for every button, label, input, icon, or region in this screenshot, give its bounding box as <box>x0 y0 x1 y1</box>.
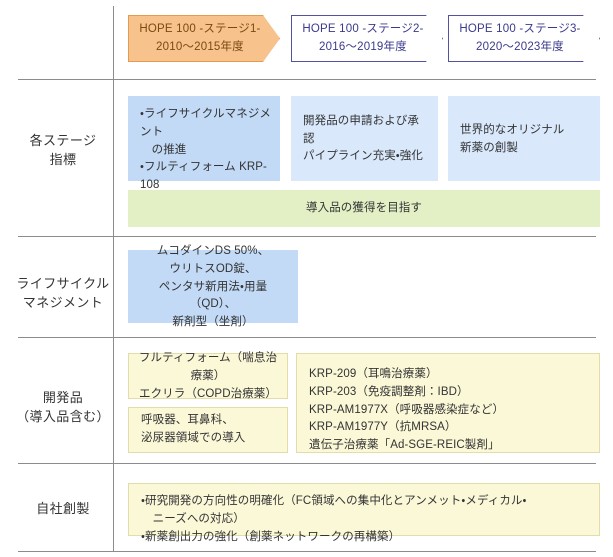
development-stage23-box: KRP-209（耳鳴治療薬） KRP-203（免疫調整剤：IBD） KRP-AM… <box>296 353 600 453</box>
grid-line-header-bottom <box>18 79 596 80</box>
grid-line-row2-bottom <box>18 337 596 338</box>
stage-indicator-stage3-box: 世界的なオリジナル 新薬の創製 <box>448 96 600 181</box>
stage-3-label: HOPE 100 -ステージ3- 2020〜2023年度 <box>459 21 580 56</box>
lifecycle-stage1-box: ムコダインDS 50%、 ウリトスOD錠、 ペンタサ新用法・用量（QD）、 新剤… <box>128 250 298 323</box>
row-label-stage-indicators: 各ステージ 指標 <box>14 132 112 170</box>
grid-line-row4-bottom <box>18 551 596 552</box>
stage-2-label: HOPE 100 -ステージ2- 2016〜2019年度 <box>302 21 423 56</box>
row-label-development: 開発品 （導入品含む） <box>14 389 112 427</box>
roadmap-diagram: HOPE 100 -ステージ1- 2010〜2015年度 HOPE 100 -ス… <box>0 0 613 557</box>
row-label-lifecycle: ライフサイクル マネジメント <box>14 275 112 313</box>
row-label-in-house: 自社創製 <box>14 500 112 519</box>
development-stage1-bottom-box: 呼吸器、耳鼻科、 泌尿器領域での導入 <box>128 407 288 453</box>
stage-indicator-banner: 導入品の獲得を目指す <box>128 190 600 227</box>
grid-line-row3-bottom <box>18 463 596 464</box>
stage-2-chevron[interactable]: HOPE 100 -ステージ2- 2016〜2019年度 <box>291 15 443 62</box>
stage-indicator-stage2-box: 開発品の申請および承認 パイプライン充実・強化 <box>291 96 438 181</box>
stage-1-label: HOPE 100 -ステージ1- 2010〜2015年度 <box>139 21 260 56</box>
grid-line-row1-bottom <box>18 236 596 237</box>
stage-1-chevron[interactable]: HOPE 100 -ステージ1- 2010〜2015年度 <box>128 15 280 62</box>
grid-line-label-divider <box>113 6 114 551</box>
in-house-creation-box: ・研究開発の方向性の明確化（FC領域への集中化とアンメット・メディカル・ ニーズ… <box>128 483 600 536</box>
stage-indicator-stage1-box: ・ライフサイクルマネジメント の推進 ・フルティフォーム KRP-108 （20… <box>128 96 280 181</box>
stage-3-chevron[interactable]: HOPE 100 -ステージ3- 2020〜2023年度 <box>448 15 600 62</box>
development-stage1-top-box: フルティフォーム（喘息治療薬） エクリラ（COPD治療薬） <box>128 353 288 399</box>
